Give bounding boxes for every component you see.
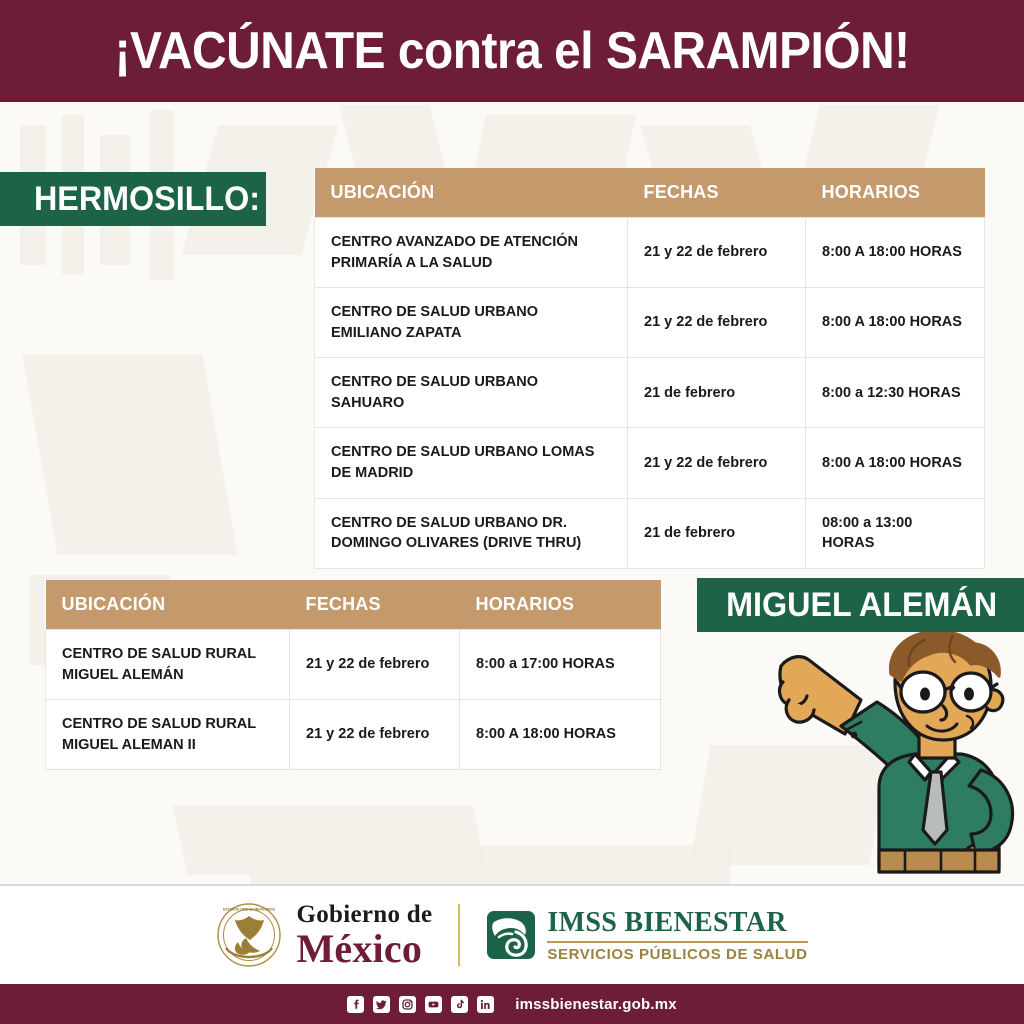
schedule-table-hermosillo: UBICACIÓN FECHAS HORARIOS CENTRO AVANZAD…: [314, 168, 985, 569]
cell-horarios: 8:00 a 17:00 HORAS: [460, 630, 661, 700]
linkedin-icon[interactable]: [477, 996, 494, 1013]
instagram-icon[interactable]: [399, 996, 416, 1013]
table-header-row: UBICACIÓN FECHAS HORARIOS: [46, 580, 661, 630]
facebook-icon[interactable]: [347, 996, 364, 1013]
gobierno-line2: México: [296, 929, 432, 969]
cell-fechas: 21 de febrero: [628, 498, 806, 568]
cell-horarios: 8:00 A 18:00 HORAS: [806, 428, 985, 498]
cell-ubicacion: CENTRO DE SALUD RURAL MIGUEL ALEMAN II: [46, 700, 290, 770]
cell-horarios: 8:00 A 18:00 HORAS: [806, 218, 985, 288]
social-media-bar: imssbienestar.gob.mx: [0, 984, 1024, 1024]
table-row: CENTRO DE SALUD URBANO DR. DOMINGO OLIVA…: [315, 498, 985, 568]
cell-ubicacion: CENTRO DE SALUD URBANO DR. DOMINGO OLIVA…: [315, 498, 628, 568]
column-header-fechas: FECHAS: [290, 580, 460, 630]
logo-separator: [458, 904, 460, 966]
imss-rule: [547, 941, 807, 943]
poster-title-banner: ¡VACÚNATE contra el SARAMPIÓN!: [0, 0, 1024, 102]
table-row: CENTRO DE SALUD URBANO LOMAS DE MADRID 2…: [315, 428, 985, 498]
cell-horarios: 08:00 a 13:00 HORAS: [806, 498, 985, 568]
poster-canvas: ¡VACÚNATE contra el SARAMPIÓN! HERMOSILL…: [0, 0, 1024, 1024]
cell-fechas: 21 y 22 de febrero: [628, 428, 806, 498]
youtube-icon[interactable]: [425, 996, 442, 1013]
cell-horarios: 8:00 A 18:00 HORAS: [460, 700, 661, 770]
schedule-table-miguel-aleman: UBICACIÓN FECHAS HORARIOS CENTRO DE SALU…: [45, 580, 661, 770]
mexican-eagle-seal: ESTADOS UNIDOS MEXICANOS: [216, 902, 282, 968]
column-header-horarios: HORARIOS: [460, 580, 661, 630]
table-header-row: UBICACIÓN FECHAS HORARIOS: [315, 168, 985, 218]
table-row: CENTRO DE SALUD RURAL MIGUEL ALEMAN II 2…: [46, 700, 661, 770]
pointing-character-illustration: [775, 630, 1024, 888]
column-header-ubicacion: UBICACIÓN: [46, 580, 290, 630]
column-header-horarios: HORARIOS: [806, 168, 985, 218]
cell-ubicacion: CENTRO DE SALUD RURAL MIGUEL ALEMÁN: [46, 630, 290, 700]
imss-line1: IMSS BIENESTAR: [547, 909, 807, 937]
twitter-icon[interactable]: [373, 996, 390, 1013]
city-banner-label-miguel-aleman: MIGUEL ALEMÁN: [726, 588, 997, 622]
cell-horarios: 8:00 A 18:00 HORAS: [806, 288, 985, 358]
footer-logos: ESTADOS UNIDOS MEXICANOS Gobierno de Méx…: [0, 886, 1024, 984]
website-url[interactable]: imssbienestar.gob.mx: [515, 996, 677, 1013]
city-banner-hermosillo: HERMOSILLO:: [0, 172, 266, 226]
gobierno-line1: Gobierno de: [296, 902, 432, 927]
tiktok-icon[interactable]: [451, 996, 468, 1013]
cell-ubicacion: CENTRO DE SALUD URBANO EMILIANO ZAPATA: [315, 288, 628, 358]
svg-text:ESTADOS UNIDOS MEXICANOS: ESTADOS UNIDOS MEXICANOS: [224, 908, 276, 912]
city-banner-label-hermosillo: HERMOSILLO:: [34, 182, 260, 216]
imss-line2: SERVICIOS PÚBLICOS DE SALUD: [547, 947, 807, 962]
table-row: CENTRO DE SALUD RURAL MIGUEL ALEMÁN 21 y…: [46, 630, 661, 700]
cell-fechas: 21 de febrero: [628, 358, 806, 428]
column-header-fechas: FECHAS: [628, 168, 806, 218]
cell-fechas: 21 y 22 de febrero: [290, 700, 460, 770]
table-row: CENTRO DE SALUD URBANO EMILIANO ZAPATA 2…: [315, 288, 985, 358]
page-title: ¡VACÚNATE contra el SARAMPIÓN!: [114, 25, 909, 77]
cell-ubicacion: CENTRO AVANZADO DE ATENCIÓN PRIMARÍA A L…: [315, 218, 628, 288]
cell-ubicacion: CENTRO DE SALUD URBANO LOMAS DE MADRID: [315, 428, 628, 498]
imss-eagle-mother-mark: [486, 910, 536, 960]
cell-fechas: 21 y 22 de febrero: [628, 288, 806, 358]
table-row: CENTRO AVANZADO DE ATENCIÓN PRIMARÍA A L…: [315, 218, 985, 288]
city-banner-miguel-aleman: MIGUEL ALEMÁN: [697, 578, 1024, 632]
cell-ubicacion: CENTRO DE SALUD URBANO SAHUARO: [315, 358, 628, 428]
column-header-ubicacion: UBICACIÓN: [315, 168, 628, 218]
cell-fechas: 21 y 22 de febrero: [628, 218, 806, 288]
cell-horarios: 8:00 a 12:30 HORAS: [806, 358, 985, 428]
imss-bienestar-logo: IMSS BIENESTAR SERVICIOS PÚBLICOS DE SAL…: [486, 909, 807, 962]
cell-fechas: 21 y 22 de febrero: [290, 630, 460, 700]
gobierno-de-mexico-logo: ESTADOS UNIDOS MEXICANOS Gobierno de Méx…: [216, 902, 432, 969]
table-row: CENTRO DE SALUD URBANO SAHUARO 21 de feb…: [315, 358, 985, 428]
